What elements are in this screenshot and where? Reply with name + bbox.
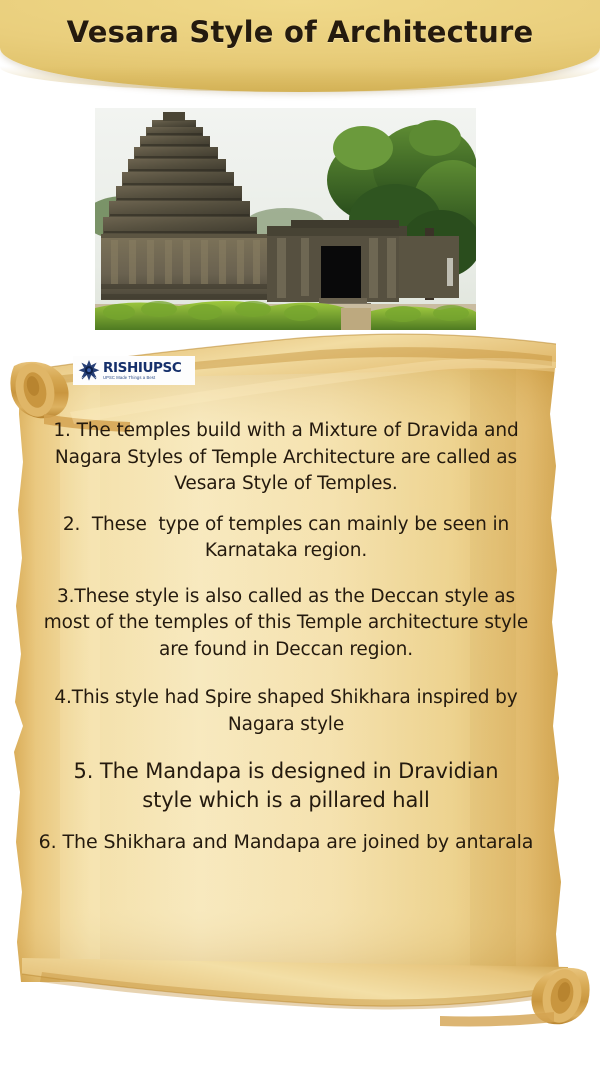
rishiupsc-logo[interactable]: RISHIUPSC UPSC Made Things a Best — [73, 356, 195, 385]
point-5: 5. The Mandapa is designed in Dravidian … — [26, 757, 546, 815]
logo-tagline: UPSC Made Things a Best — [103, 374, 181, 381]
temple-photo — [95, 108, 476, 330]
rishiupsc-emblem-icon — [76, 359, 102, 383]
point-3: 3.These style is also called as the Decc… — [26, 584, 546, 664]
points-list: 1. The temples build with a Mixture of D… — [26, 418, 546, 856]
header-banner: Vesara Style of Architecture — [0, 0, 600, 92]
point-1: 1. The temples build with a Mixture of D… — [26, 418, 546, 498]
point-4: 4.This style had Spire shaped Shikhara i… — [26, 685, 546, 738]
point-2: 2. These type of temples can mainly be s… — [26, 512, 546, 565]
point-6: 6. The Shikhara and Mandapa are joined b… — [26, 829, 546, 856]
scroll-panel: RISHIUPSC UPSC Made Things a Best 1. The… — [0, 322, 600, 1067]
temple-photo-illustration — [95, 108, 476, 330]
page-title: Vesara Style of Architecture — [0, 15, 600, 49]
logo-name: RISHIUPSC — [103, 361, 181, 375]
